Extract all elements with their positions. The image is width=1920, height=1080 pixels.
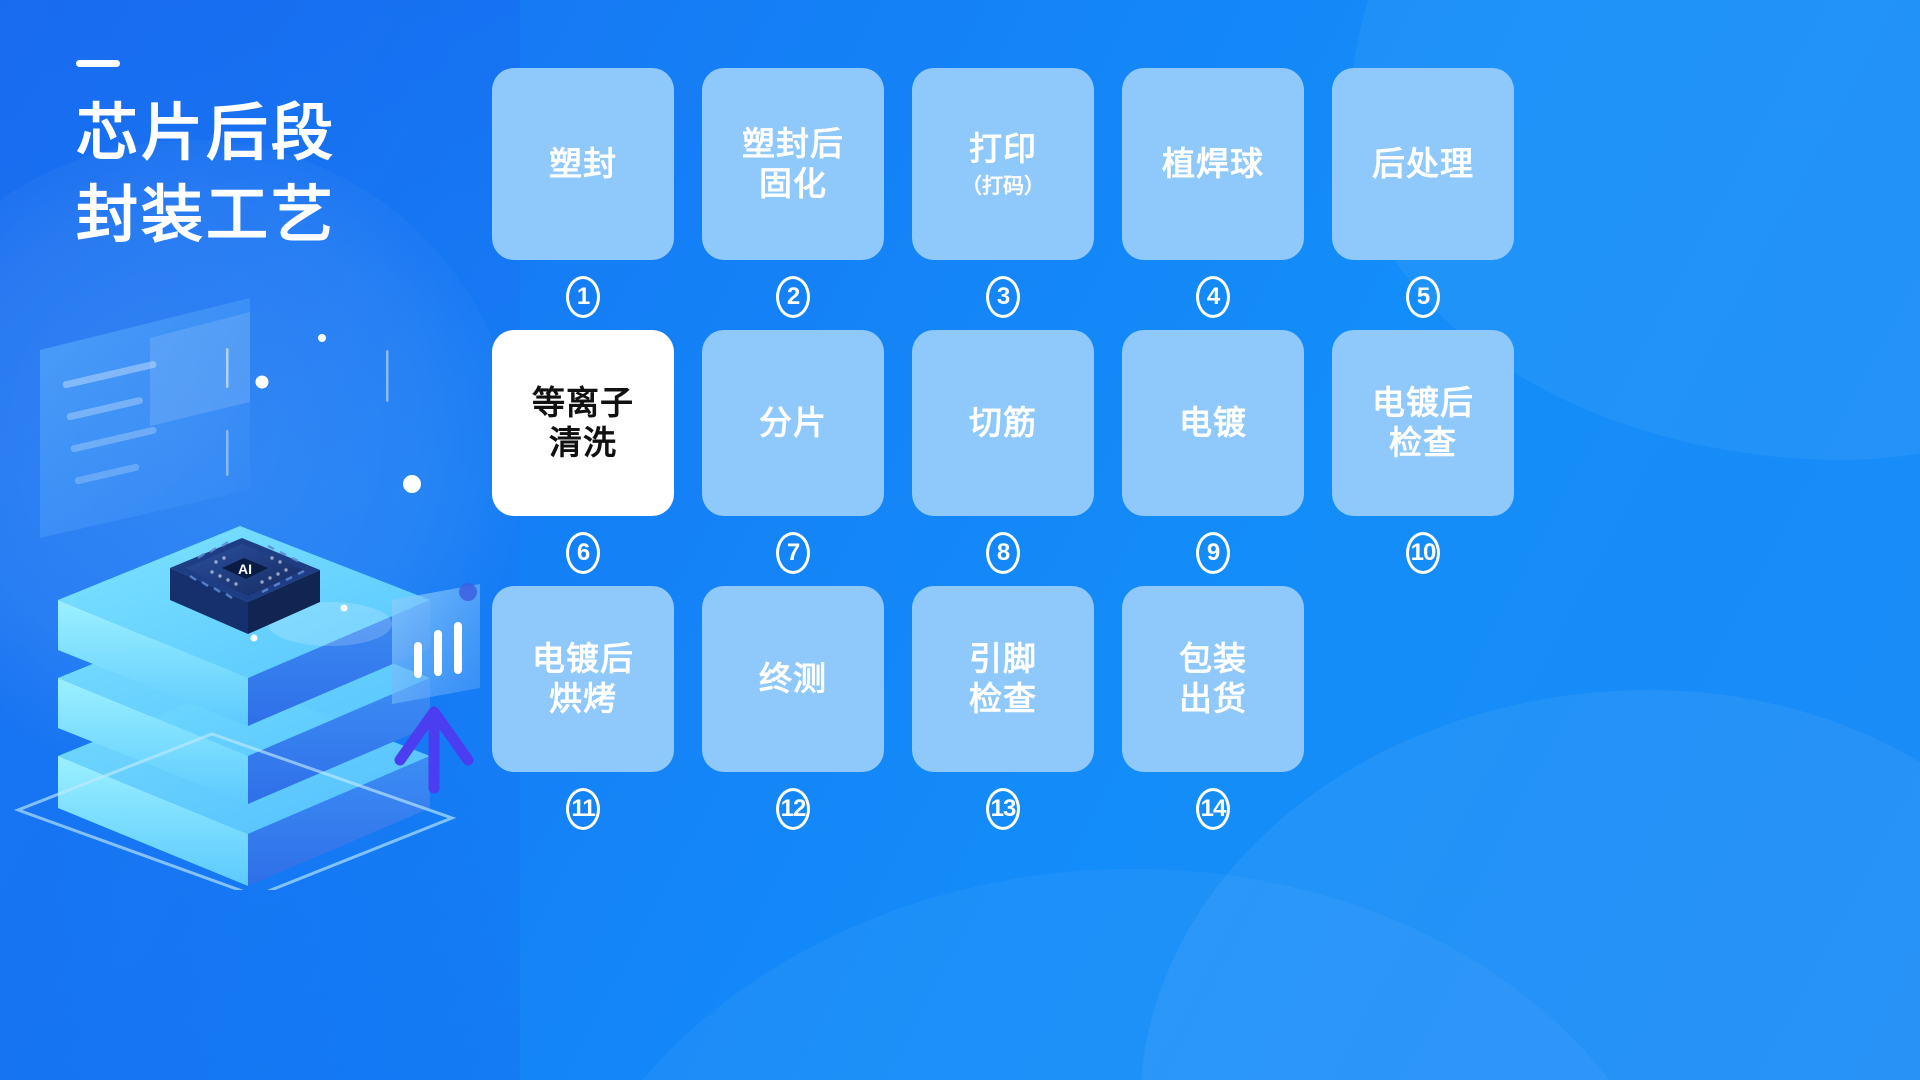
monitor-illustration: [40, 298, 250, 538]
process-card-2[interactable]: 塑封后 固化: [702, 68, 884, 260]
process-number-badge: 8: [986, 532, 1020, 574]
title-accent-dash: [76, 60, 120, 67]
process-step-4[interactable]: 植焊球 4: [1122, 68, 1304, 318]
process-step-13[interactable]: 引脚 检查 13: [912, 586, 1094, 830]
title-line-1: 芯片后段: [76, 93, 476, 175]
process-step-1[interactable]: 塑封 1: [492, 68, 674, 318]
process-step-8[interactable]: 切筋 8: [912, 330, 1094, 574]
process-number-badge: 12: [776, 788, 810, 830]
process-card-label: 塑封后 固化: [742, 124, 844, 205]
process-card-label: 切筋: [969, 403, 1037, 443]
bottom-wave-blob: [505, 830, 1695, 1080]
process-row-3: 电镀后 烘烤 11 终测 12 引脚 检查 13 包装 出货: [492, 586, 1862, 830]
process-number-badge: 9: [1196, 532, 1230, 574]
process-card-label: 植焊球: [1162, 144, 1264, 184]
process-card-13[interactable]: 引脚 检查: [912, 586, 1094, 772]
process-step-10[interactable]: 电镀后 检查 10: [1332, 330, 1514, 574]
svg-text:AI: AI: [238, 561, 252, 577]
process-card-7[interactable]: 分片: [702, 330, 884, 516]
light-puddle: [268, 602, 392, 646]
chip-stack-illustration: AI: [0, 290, 500, 890]
process-card-10[interactable]: 电镀后 检查: [1332, 330, 1514, 516]
process-number-badge: 11: [566, 788, 600, 830]
process-card-sublabel: （打码）: [961, 174, 1045, 199]
process-card-label: 打印: [969, 129, 1037, 169]
process-step-12[interactable]: 终测 12: [702, 586, 884, 830]
title-line-2: 封装工艺: [76, 175, 476, 257]
process-step-5[interactable]: 后处理 5: [1332, 68, 1514, 318]
process-card-label: 塑封: [549, 144, 617, 184]
process-grid: 塑封 1 塑封后 固化 2 打印 （打码） 3 植焊球: [492, 68, 1862, 842]
process-step-6[interactable]: 等离子 清洗 6: [492, 330, 674, 574]
process-card-4[interactable]: 植焊球: [1122, 68, 1304, 260]
process-card-label: 电镀后 检查: [1372, 383, 1474, 464]
process-card-label: 引脚 检查: [969, 639, 1037, 720]
process-number-badge: 2: [776, 276, 810, 318]
process-step-9[interactable]: 电镀 9: [1122, 330, 1304, 574]
process-card-9[interactable]: 电镀: [1122, 330, 1304, 516]
process-number-badge: 1: [566, 276, 600, 318]
process-card-6-active[interactable]: 等离子 清洗: [492, 330, 674, 516]
process-number-badge: 4: [1196, 276, 1230, 318]
infographic-canvas: 芯片后段 封装工艺: [0, 0, 1920, 1080]
process-card-label: 后处理: [1372, 144, 1474, 184]
process-number-badge: 7: [776, 532, 810, 574]
process-card-label: 分片: [759, 403, 827, 443]
process-card-11[interactable]: 电镀后 烘烤: [492, 586, 674, 772]
process-card-label: 终测: [759, 659, 827, 699]
process-step-3[interactable]: 打印 （打码） 3: [912, 68, 1094, 318]
process-card-8[interactable]: 切筋: [912, 330, 1094, 516]
process-card-1[interactable]: 塑封: [492, 68, 674, 260]
bar-chart-panel: [392, 583, 480, 704]
ai-chip: AI: [170, 538, 320, 634]
process-card-14[interactable]: 包装 出货: [1122, 586, 1304, 772]
process-row-1: 塑封 1 塑封后 固化 2 打印 （打码） 3 植焊球: [492, 68, 1862, 318]
process-card-label: 电镀: [1179, 403, 1247, 443]
process-card-label: 包装 出货: [1179, 639, 1247, 720]
process-number-badge: 6: [566, 532, 600, 574]
process-card-label: 等离子 清洗: [532, 383, 634, 464]
process-number-badge: 14: [1196, 788, 1230, 830]
process-step-7[interactable]: 分片 7: [702, 330, 884, 574]
process-step-11[interactable]: 电镀后 烘烤 11: [492, 586, 674, 830]
platform-stack: [58, 526, 430, 886]
arrow-stand: [400, 712, 468, 788]
process-card-label: 电镀后 烘烤: [532, 639, 634, 720]
process-step-14[interactable]: 包装 出货 14: [1122, 586, 1304, 830]
process-card-3[interactable]: 打印 （打码）: [912, 68, 1094, 260]
sparkle-dots: [226, 334, 421, 642]
process-card-12[interactable]: 终测: [702, 586, 884, 772]
process-number-badge: 13: [986, 788, 1020, 830]
page-title: 芯片后段 封装工艺: [76, 60, 476, 258]
process-number-badge: 5: [1406, 276, 1440, 318]
process-number-badge: 3: [986, 276, 1020, 318]
process-card-5[interactable]: 后处理: [1332, 68, 1514, 260]
base-outline: [18, 734, 452, 890]
process-step-2[interactable]: 塑封后 固化 2: [702, 68, 884, 318]
process-row-2: 等离子 清洗 6 分片 7 切筋 8 电镀 9: [492, 330, 1862, 574]
process-number-badge: 10: [1406, 532, 1440, 574]
